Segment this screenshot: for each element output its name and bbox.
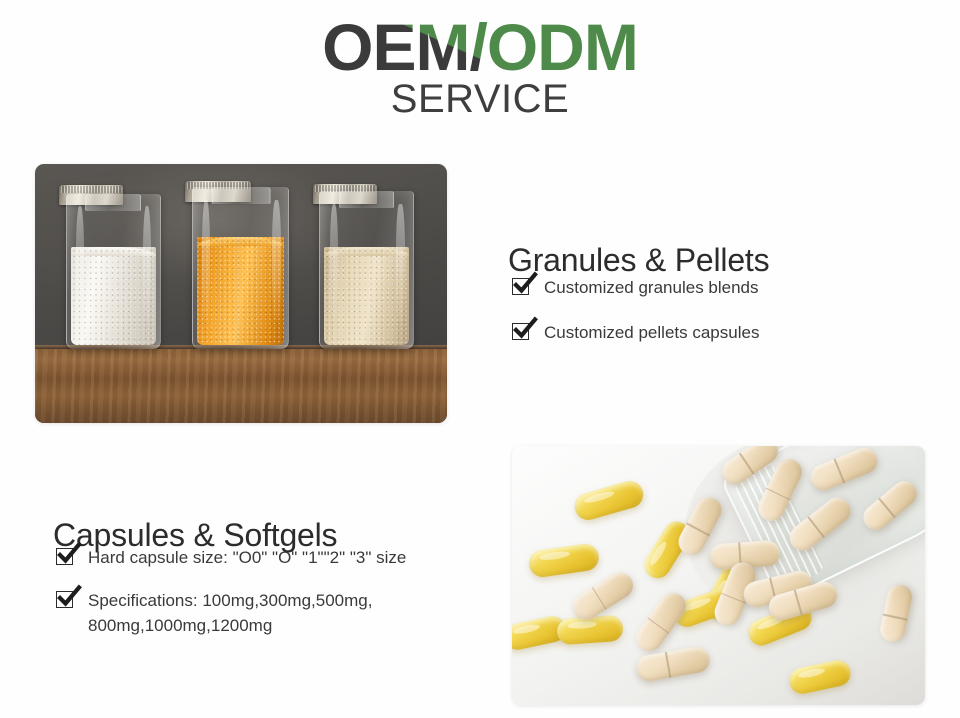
- list-item-label: Specifications: 100mg,300mg,500mg, 800mg…: [88, 591, 372, 635]
- check-icon: [512, 323, 529, 340]
- list-item: Hard capsule size: "O0" "O" "1""2" "3" s…: [53, 545, 453, 570]
- jar-scene: [35, 164, 447, 423]
- header-block: OEM/ODM SERVICE: [0, 0, 960, 135]
- granules-jars-image: [35, 164, 447, 423]
- capsules-softgels-image: [512, 446, 925, 705]
- glass-highlight: [272, 200, 281, 320]
- list-item-label: Customized pellets capsules: [544, 323, 759, 342]
- glass-jar-beige: [319, 191, 414, 349]
- glass-highlight: [143, 206, 151, 321]
- feature-list-capsules: Hard capsule size: "O0" "O" "1""2" "3" s…: [53, 545, 453, 656]
- softgel: [527, 542, 600, 579]
- glass-highlight: [202, 200, 211, 320]
- softgel: [787, 657, 853, 695]
- list-item: Customized granules blends: [509, 275, 909, 300]
- feature-list-granules: Customized granules blends Customized pe…: [509, 275, 909, 365]
- page-title: OEM/ODM: [0, 14, 960, 80]
- page-subtitle: SERVICE: [0, 79, 960, 119]
- capsule-scene: [512, 446, 925, 705]
- check-icon: [512, 278, 529, 295]
- page-title-text: OEM/ODM: [322, 14, 638, 80]
- section-heading-granules: Granules & Pellets: [508, 241, 769, 279]
- jar-neck: [85, 194, 141, 211]
- glass-highlight: [396, 204, 404, 321]
- list-item-label: Customized granules blends: [544, 278, 759, 297]
- glass-highlight: [76, 206, 84, 321]
- wooden-table: [35, 349, 447, 423]
- softgel: [572, 478, 647, 523]
- check-icon: [56, 591, 73, 608]
- glass-jar-white: [66, 194, 161, 349]
- softgel: [557, 615, 625, 645]
- jar-neck: [211, 187, 270, 204]
- list-item-label: Hard capsule size: "O0" "O" "1""2" "3" s…: [88, 548, 406, 567]
- list-item: Customized pellets capsules: [509, 320, 909, 345]
- glass-highlight: [330, 204, 338, 321]
- check-icon: [56, 548, 73, 565]
- list-item: Specifications: 100mg,300mg,500mg, 800mg…: [53, 588, 453, 638]
- glass-jar-orange: [192, 187, 289, 349]
- jar-neck: [339, 191, 395, 208]
